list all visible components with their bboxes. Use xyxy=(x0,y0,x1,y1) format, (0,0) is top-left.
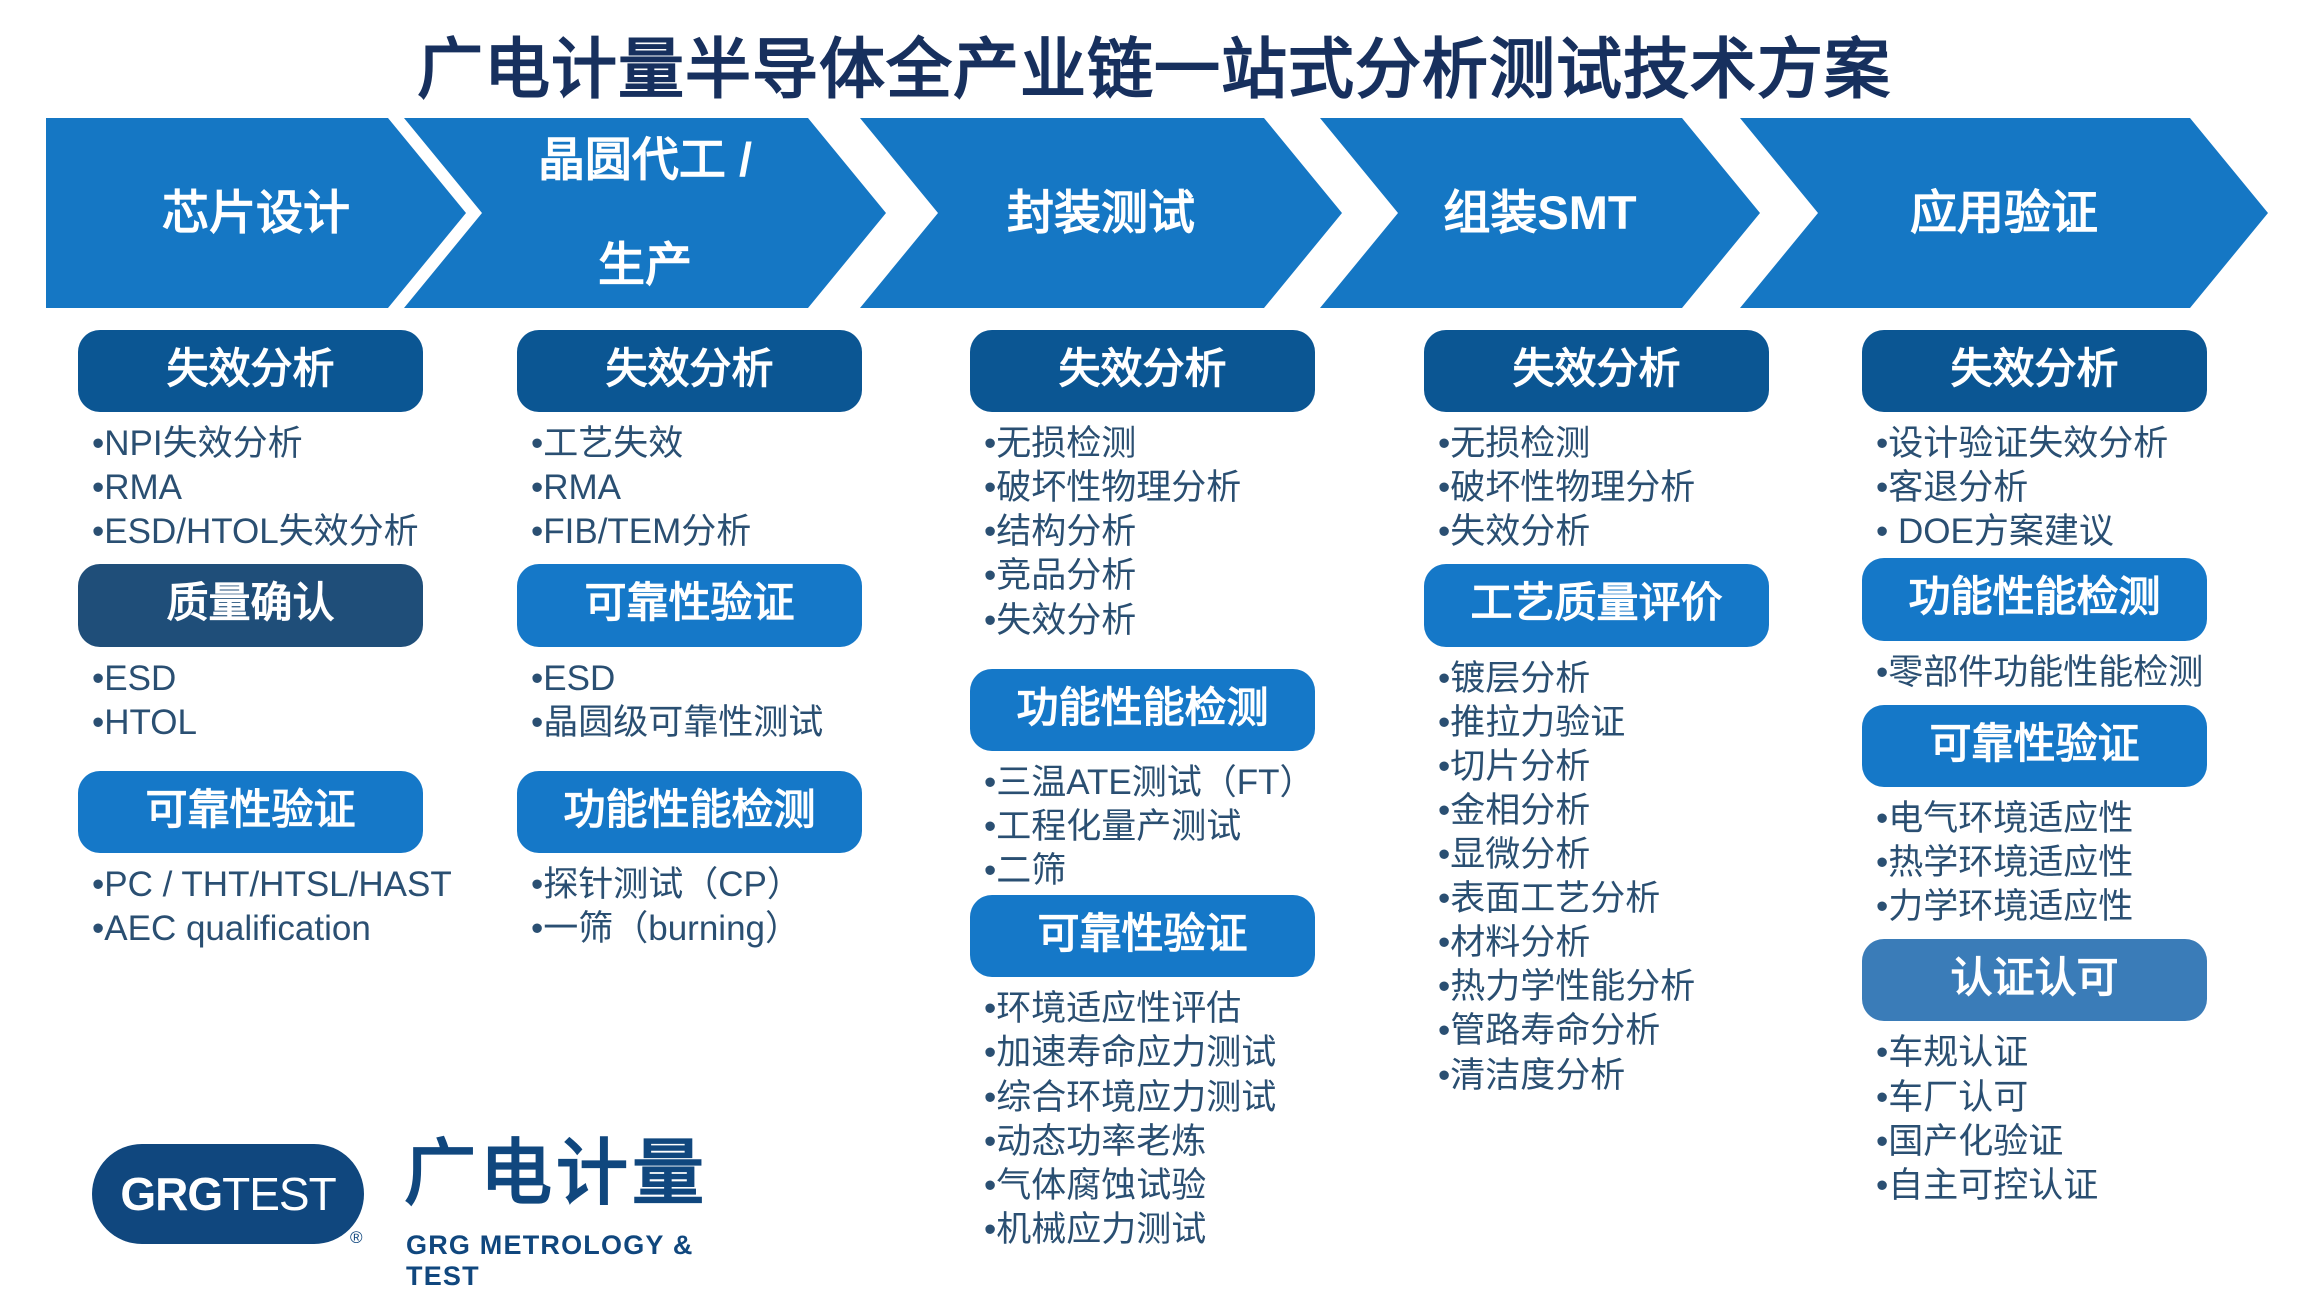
spacer xyxy=(1862,929,2222,939)
list-item: •无损检测 xyxy=(1438,422,1774,466)
stage-label: 晶圆代工 / 生产 xyxy=(518,134,772,292)
group-items-failure-analysis: •工艺失效 •RMA •FIB/TEM分析 xyxy=(517,412,867,554)
list-item: •客退分析 xyxy=(1876,466,2222,510)
list-item: •热力学性能分析 xyxy=(1438,965,1774,1009)
list-item: •工程化量产测试 xyxy=(984,805,1330,849)
list-item: •结构分析 xyxy=(984,510,1330,554)
list-item: •一筛（burning） xyxy=(531,907,867,951)
list-item: •AEC qualification xyxy=(92,907,428,951)
list-item: •切片分析 xyxy=(1438,745,1774,789)
list-item: •环境适应性评估 xyxy=(984,987,1330,1031)
group-heading-process-quality-evaluation[interactable]: 工艺质量评价 xyxy=(1424,564,1769,646)
list-item: •综合环境应力测试 xyxy=(984,1076,1330,1120)
column-package-test: 失效分析 •无损检测 •破坏性物理分析 •结构分析 •竞品分析 •失效分析 功能… xyxy=(970,330,1330,1252)
list-item: •失效分析 xyxy=(984,599,1330,643)
list-item: •力学环境适应性 xyxy=(1876,885,2222,929)
spacer xyxy=(970,643,1330,669)
stage-label: 封装测试 xyxy=(997,187,1205,240)
list-item: •清洁度分析 xyxy=(1438,1054,1774,1098)
column-wafer-foundry: 失效分析 •工艺失效 •RMA •FIB/TEM分析 可靠性验证 •ESD •晶… xyxy=(517,330,867,951)
group-items-functional-performance-test: •零部件功能性能检测 xyxy=(1862,641,2222,695)
list-item: • DOE方案建议 xyxy=(1876,510,2222,554)
group-heading-functional-performance-test[interactable]: 功能性能检测 xyxy=(1862,558,2207,640)
group-items-reliability-validation: •环境适应性评估 •加速寿命应力测试 •综合环境应力测试 •动态功率老炼 •气体… xyxy=(970,977,1330,1252)
page-title: 广电计量半导体全产业链一站式分析测试技术方案 xyxy=(0,16,2308,112)
group-items-failure-analysis: •设计验证失效分析 •客退分析 • DOE方案建议 xyxy=(1862,412,2222,554)
list-item: •零部件功能性能检测 xyxy=(1876,651,2222,695)
list-item: •显微分析 xyxy=(1438,833,1774,877)
group-heading-reliability-validation[interactable]: 可靠性验证 xyxy=(78,771,423,853)
list-item: •RMA xyxy=(531,466,867,510)
list-item: •HTOL xyxy=(92,701,428,745)
stage-label: 组装SMT xyxy=(1433,187,1646,240)
group-heading-failure-analysis[interactable]: 失效分析 xyxy=(517,330,862,412)
list-item: •推拉力验证 xyxy=(1438,701,1774,745)
list-item: •管路寿命分析 xyxy=(1438,1009,1774,1053)
list-item: •FIB/TEM分析 xyxy=(531,510,867,554)
column-application-validation: 失效分析 •设计验证失效分析 •客退分析 • DOE方案建议 功能性能检测 •零… xyxy=(1862,330,2222,1208)
stage-chevron-wafer-foundry[interactable]: 晶圆代工 / 生产 xyxy=(404,118,886,308)
logo-wordmark-light: TEST xyxy=(222,1168,336,1220)
stage-label: 芯片设计 xyxy=(152,187,360,240)
group-heading-quality-confirmation[interactable]: 质量确认 xyxy=(78,564,423,646)
list-item: •车规认证 xyxy=(1876,1031,2222,1075)
grgtest-logo-mark: GRGTEST xyxy=(92,1144,364,1244)
list-item: •RMA xyxy=(92,466,428,510)
list-item: •探针测试（CP） xyxy=(531,863,867,907)
company-logo: GRGTEST ® 广电计量 GRG METROLOGY & TEST xyxy=(92,1142,752,1272)
list-item: •ESD xyxy=(531,657,867,701)
group-items-reliability-validation: •ESD •晶圆级可靠性测试 xyxy=(517,647,867,745)
spacer xyxy=(517,745,867,771)
list-item: •三温ATE测试（FT） xyxy=(984,761,1330,805)
list-item: •设计验证失效分析 xyxy=(1876,422,2222,466)
group-heading-functional-performance-test[interactable]: 功能性能检测 xyxy=(517,771,862,853)
logo-wordmark-bold: GRG xyxy=(120,1168,222,1220)
list-item: •电气环境适应性 xyxy=(1876,797,2222,841)
list-item: •晶圆级可靠性测试 xyxy=(531,701,867,745)
group-items-failure-analysis: •NPI失效分析 •RMA •ESD/HTOL失效分析 xyxy=(78,412,428,554)
list-item: •失效分析 xyxy=(1438,510,1774,554)
list-item: •热学环境适应性 xyxy=(1876,841,2222,885)
group-items-reliability-validation: •PC / THT/HTSL/HAST •AEC qualification xyxy=(78,853,428,951)
group-items-reliability-validation: •电气环境适应性 •热学环境适应性 •力学环境适应性 xyxy=(1862,787,2222,929)
list-item: •ESD xyxy=(92,657,428,701)
spacer xyxy=(78,745,428,771)
company-name-en: GRG METROLOGY & TEST xyxy=(406,1230,752,1292)
list-item: •竞品分析 xyxy=(984,554,1330,598)
group-heading-certification-accreditation[interactable]: 认证认可 xyxy=(1862,939,2207,1021)
column-assembly-smt: 失效分析 •无损检测 •破坏性物理分析 •失效分析 工艺质量评价 •镀层分析 •… xyxy=(1424,330,1774,1098)
group-items-functional-performance-test: •探针测试（CP） •一筛（burning） xyxy=(517,853,867,951)
list-item: •PC / THT/HTSL/HAST xyxy=(92,863,428,907)
stage-label-line2: 生产 xyxy=(528,239,762,292)
stage-chevron-package-test[interactable]: 封装测试 xyxy=(860,118,1342,308)
company-name-cn: 广电计量 xyxy=(404,1138,708,1210)
group-items-failure-analysis: •无损检测 •破坏性物理分析 •失效分析 xyxy=(1424,412,1774,554)
list-item: •表面工艺分析 xyxy=(1438,877,1774,921)
list-item: •镀层分析 xyxy=(1438,657,1774,701)
group-items-process-quality-evaluation: •镀层分析 •推拉力验证 •切片分析 •金相分析 •显微分析 •表面工艺分析 •… xyxy=(1424,647,1774,1098)
list-item: •加速寿命应力测试 xyxy=(984,1031,1330,1075)
list-item: •国产化验证 xyxy=(1876,1120,2222,1164)
list-item: •金相分析 xyxy=(1438,789,1774,833)
group-heading-failure-analysis[interactable]: 失效分析 xyxy=(970,330,1315,412)
list-item: •自主可控认证 xyxy=(1876,1164,2222,1208)
list-item: •材料分析 xyxy=(1438,921,1774,965)
stage-label-line1: 晶圆代工 / xyxy=(528,134,762,187)
list-item: •工艺失效 xyxy=(531,422,867,466)
registered-trademark-icon: ® xyxy=(350,1228,363,1248)
group-items-quality-confirmation: •ESD •HTOL xyxy=(78,647,428,745)
list-item: •二筛 xyxy=(984,849,1330,893)
group-heading-reliability-validation[interactable]: 可靠性验证 xyxy=(517,564,862,646)
list-item: •车厂认可 xyxy=(1876,1076,2222,1120)
spacer xyxy=(78,554,428,564)
logo-wordmark: GRGTEST xyxy=(120,1167,335,1221)
list-item: •破坏性物理分析 xyxy=(1438,466,1774,510)
list-item: •动态功率老炼 xyxy=(984,1120,1330,1164)
list-item: •无损检测 xyxy=(984,422,1330,466)
process-chevron-band: 芯片设计 晶圆代工 / 生产 封装测试 组装SMT 应用验证 xyxy=(0,118,2308,318)
group-heading-functional-performance-test[interactable]: 功能性能检测 xyxy=(970,669,1315,751)
list-item: •NPI失效分析 xyxy=(92,422,428,466)
group-items-functional-performance-test: •三温ATE测试（FT） •工程化量产测试 •二筛 xyxy=(970,751,1330,893)
group-heading-failure-analysis[interactable]: 失效分析 xyxy=(1424,330,1769,412)
list-item: •机械应力测试 xyxy=(984,1208,1330,1252)
group-heading-failure-analysis[interactable]: 失效分析 xyxy=(78,330,423,412)
slide-canvas: 广电计量半导体全产业链一站式分析测试技术方案 芯片设计 晶圆代工 / 生产 封装… xyxy=(0,0,2308,1302)
spacer xyxy=(1424,554,1774,564)
list-item: •破坏性物理分析 xyxy=(984,466,1330,510)
group-items-certification-accreditation: •车规认证 •车厂认可 •国产化验证 •自主可控认证 xyxy=(1862,1021,2222,1207)
column-chip-design: 失效分析 •NPI失效分析 •RMA •ESD/HTOL失效分析 质量确认 •E… xyxy=(78,330,428,951)
list-item: •ESD/HTOL失效分析 xyxy=(92,510,428,554)
group-items-failure-analysis: •无损检测 •破坏性物理分析 •结构分析 •竞品分析 •失效分析 xyxy=(970,412,1330,642)
spacer xyxy=(1862,695,2222,705)
stage-chevron-application-validation[interactable]: 应用验证 xyxy=(1740,118,2268,308)
group-heading-reliability-validation[interactable]: 可靠性验证 xyxy=(970,895,1315,977)
group-heading-reliability-validation[interactable]: 可靠性验证 xyxy=(1862,705,2207,787)
stage-label: 应用验证 xyxy=(1900,187,2108,240)
spacer xyxy=(517,554,867,564)
group-heading-failure-analysis[interactable]: 失效分析 xyxy=(1862,330,2207,412)
stage-chevron-chip-design[interactable]: 芯片设计 xyxy=(46,118,466,308)
stage-chevron-assembly-smt[interactable]: 组装SMT xyxy=(1320,118,1760,308)
list-item: •气体腐蚀试验 xyxy=(984,1164,1330,1208)
